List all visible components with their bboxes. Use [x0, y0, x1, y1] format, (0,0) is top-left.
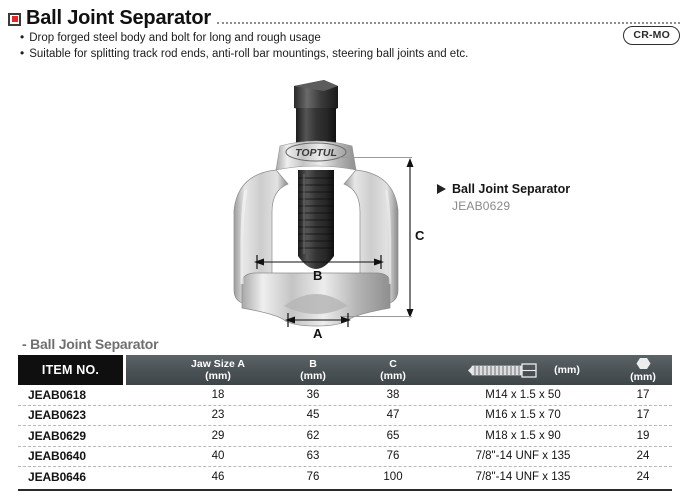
table-body: JEAB0618 18 36 38 M14 x 1.5 x 50 17 JEAB…: [18, 385, 672, 487]
product-figure: TOPTUL C B: [0, 78, 690, 333]
cell-hex: 17: [608, 385, 678, 405]
cell-item-no: JEAB0629: [28, 426, 148, 446]
hex-nut-icon: [636, 357, 651, 370]
dimension-c-leader-top: [340, 157, 412, 158]
table-row: JEAB0629 29 62 65 M18 x 1.5 x 90 19: [18, 426, 672, 447]
cell-thread: M14 x 1.5 x 50: [428, 385, 618, 405]
material-badge: CR-MO: [623, 26, 680, 45]
column-header-label: Jaw Size A: [191, 358, 245, 370]
triangle-right-icon: [437, 184, 446, 194]
bullet-text: Suitable for splitting track rod ends, a…: [29, 46, 468, 62]
column-header-hex: (mm): [608, 355, 678, 385]
table-row: JEAB0640 40 63 76 7/8"-14 UNF x 135 24: [18, 447, 672, 468]
column-header-label: C: [389, 358, 397, 370]
cell-item-no: JEAB0640: [28, 447, 148, 467]
column-header-item-no: ITEM NO.: [18, 355, 123, 385]
column-header-unit: (mm): [554, 364, 580, 376]
svg-text:TOPTUL: TOPTUL: [295, 147, 337, 159]
feature-bullet-list: • Drop forged steel body and bolt for lo…: [20, 30, 580, 62]
product-callout: Ball Joint Separator JEAB0629: [437, 182, 667, 213]
bullet-text: Drop forged steel body and bolt for long…: [29, 30, 321, 46]
table-row: JEAB0618 18 36 38 M14 x 1.5 x 50 17: [18, 385, 672, 406]
cell-hex: 24: [608, 447, 678, 467]
column-header-label: B: [309, 358, 317, 370]
cell-item-no: JEAB0623: [28, 406, 148, 426]
dimension-a-label: A: [313, 326, 322, 341]
cell-thread: 7/8"-14 UNF x 135: [428, 447, 618, 467]
cell-hex: 17: [608, 406, 678, 426]
specification-table: ITEM NO. Jaw Size A (mm) B (mm) C (mm): [18, 355, 672, 491]
bullet-dot-icon: •: [20, 30, 24, 45]
list-item: • Drop forged steel body and bolt for lo…: [20, 30, 580, 46]
cell-item-no: JEAB0646: [28, 467, 148, 487]
column-header-unit: (mm): [380, 370, 406, 382]
red-square-marker-icon: [8, 13, 21, 26]
cell-thread: M16 x 1.5 x 70: [428, 406, 618, 426]
table-bottom-border: [18, 489, 672, 491]
dimension-b-label: B: [313, 268, 322, 283]
column-header-unit: (mm): [630, 371, 656, 383]
callout-item-code: JEAB0629: [452, 199, 667, 213]
cell-hex: 24: [608, 467, 678, 487]
bolt-shaft: [296, 108, 336, 146]
callout-title: Ball Joint Separator: [452, 182, 570, 196]
table-row: JEAB0623 23 45 47 M16 x 1.5 x 70 17: [18, 406, 672, 427]
column-header-unit: (mm): [205, 370, 231, 382]
bullet-dot-icon: •: [20, 46, 24, 61]
column-header-thread: (mm): [428, 355, 618, 385]
threaded-bolt-icon: [466, 363, 550, 378]
column-header-unit: (mm): [300, 370, 326, 382]
page-title: Ball Joint Separator: [26, 7, 211, 30]
table-row: JEAB0646 46 76 100 7/8"-14 UNF x 135 24: [18, 467, 672, 487]
table-subtitle: - Ball Joint Separator: [22, 336, 158, 352]
cell-item-no: JEAB0618: [28, 385, 148, 405]
page-header: Ball Joint Separator: [8, 6, 680, 30]
dimension-c-annotation: [396, 158, 430, 318]
cell-hex: 19: [608, 426, 678, 446]
table-header-row: ITEM NO. Jaw Size A (mm) B (mm) C (mm): [18, 355, 672, 385]
dimension-c-label: C: [415, 228, 424, 243]
cell-thread: 7/8"-14 UNF x 135: [428, 467, 618, 487]
list-item: • Suitable for splitting track rod ends,…: [20, 46, 580, 62]
cell-thread: M18 x 1.5 x 90: [428, 426, 618, 446]
title-divider: [217, 22, 680, 24]
